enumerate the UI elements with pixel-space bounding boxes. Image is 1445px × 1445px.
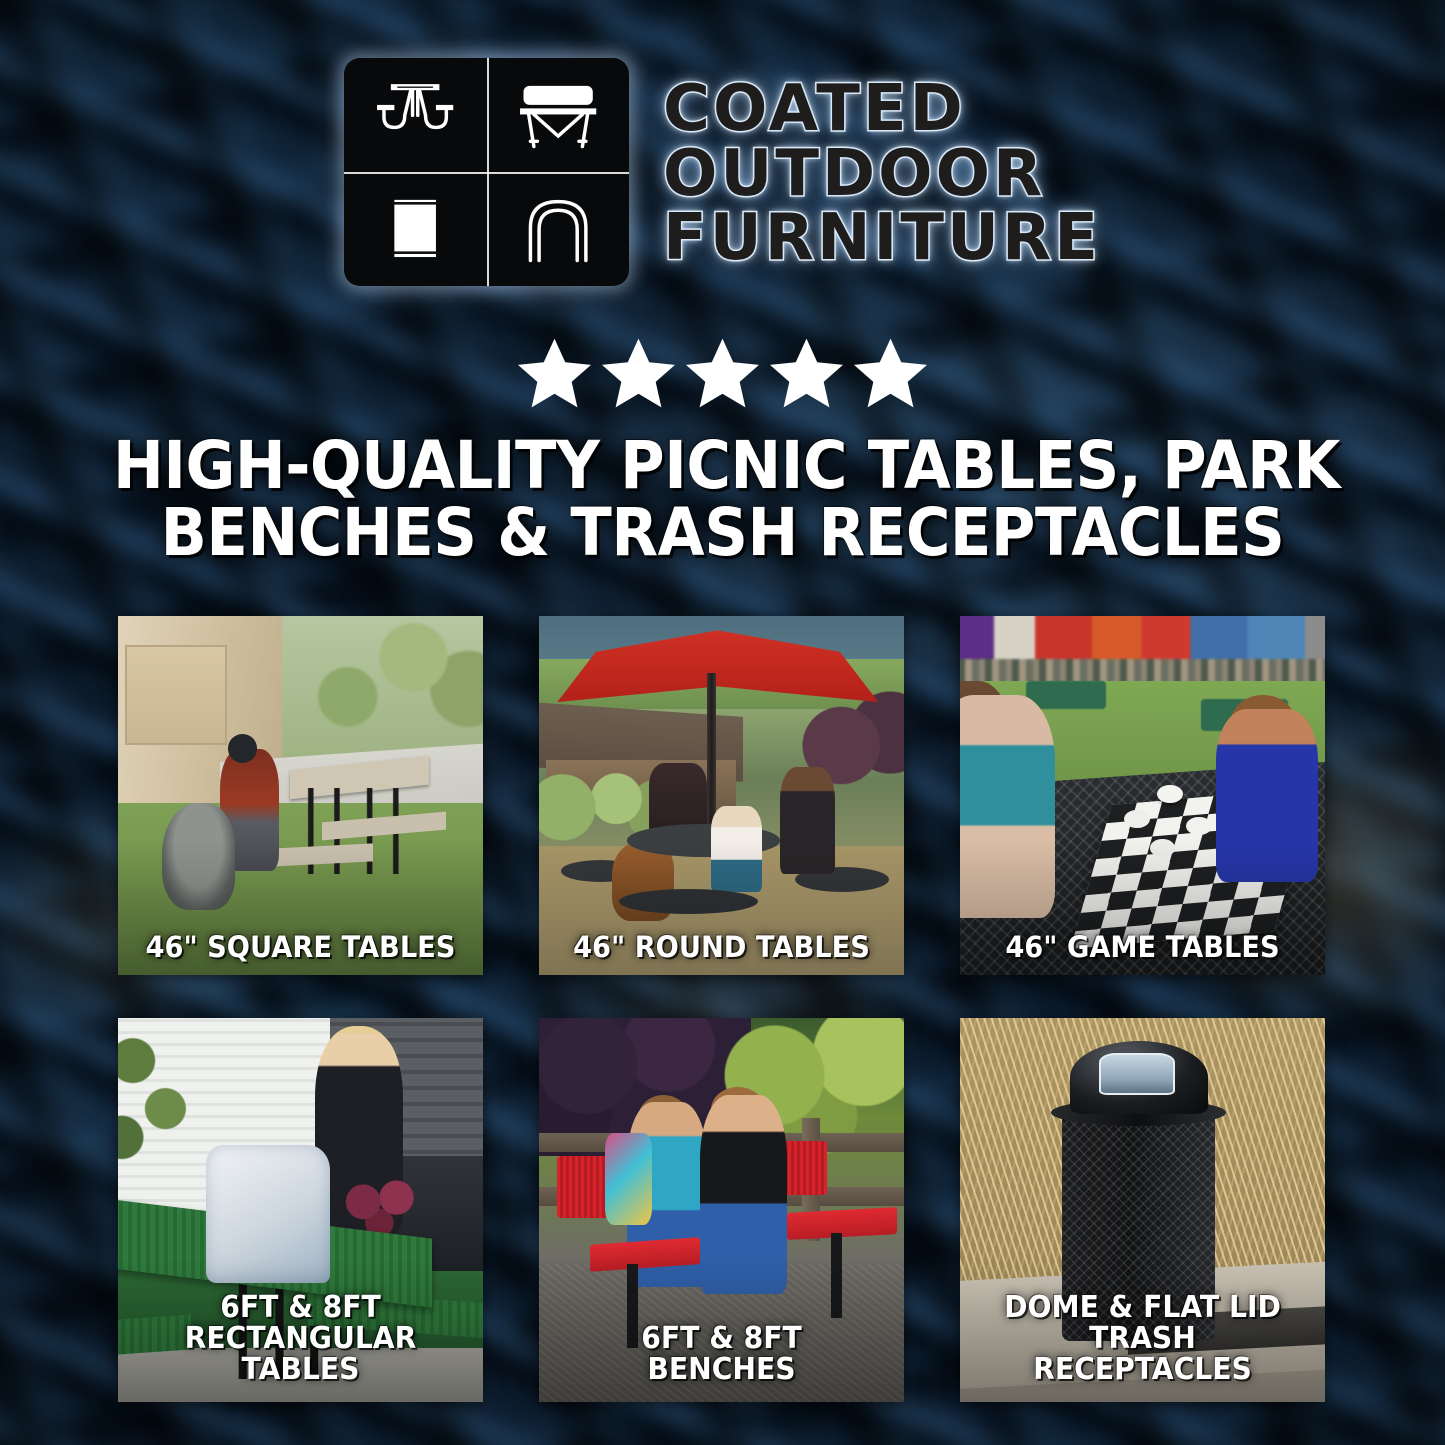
brand-name-line-1: COATED [663, 78, 1101, 141]
star-icon [602, 338, 675, 408]
trash-receptacle-icon [344, 172, 487, 286]
round-tables-photo [539, 616, 904, 975]
bike-rack-arch-icon [487, 172, 630, 286]
star-icon [770, 338, 843, 408]
page-title: HIGH-QUALITY PICNIC TABLES, PARK BENCHES… [113, 432, 1332, 567]
brand-logo: COATED OUTDOOR FURNITURE [0, 58, 1445, 286]
product-grid: 46" SQUARE TABLES 46" ROUND TABLES [118, 616, 1328, 1402]
product-card-round-tables[interactable]: 46" ROUND TABLES [539, 616, 904, 975]
product-card-trash-receptacles[interactable]: DOME & FLAT LID TRASH RECEPTACLES [960, 1018, 1325, 1402]
star-rating [0, 338, 1445, 408]
product-caption: 46" ROUND TABLES [556, 933, 888, 963]
product-card-rectangular-tables[interactable]: 6FT & 8FT RECTANGULAR TABLES [118, 1018, 483, 1402]
product-caption: 6FT & 8FT RECTANGULAR TABLES [135, 1293, 467, 1386]
product-card-square-tables[interactable]: 46" SQUARE TABLES [118, 616, 483, 975]
star-icon [854, 338, 927, 408]
product-caption: DOME & FLAT LID TRASH RECEPTACLES [977, 1293, 1309, 1386]
brand-name-line-2: OUTDOOR [663, 143, 1101, 206]
page-title-line-1: HIGH-QUALITY PICNIC TABLES, PARK [113, 432, 1332, 499]
product-caption: 6FT & 8FT BENCHES [556, 1324, 888, 1386]
picnic-table-icon [344, 58, 487, 172]
product-caption: 46" SQUARE TABLES [135, 933, 467, 963]
promotional-poster: COATED OUTDOOR FURNITURE HIGH-QUALITY PI… [0, 0, 1445, 1445]
product-card-game-tables[interactable]: 46" GAME TABLES [960, 616, 1325, 975]
park-bench-icon [487, 58, 630, 172]
product-card-benches[interactable]: 6FT & 8FT BENCHES [539, 1018, 904, 1402]
brand-name: COATED OUTDOOR FURNITURE [663, 74, 1101, 270]
star-icon [518, 338, 591, 408]
brand-name-line-3: FURNITURE [663, 207, 1101, 270]
logo-mark-quadrants [344, 58, 629, 286]
product-caption: 46" GAME TABLES [977, 933, 1309, 963]
star-icon [686, 338, 759, 408]
page-title-line-2: BENCHES & TRASH RECEPTACLES [113, 499, 1332, 566]
square-tables-photo [118, 616, 483, 975]
game-tables-photo [960, 616, 1325, 975]
